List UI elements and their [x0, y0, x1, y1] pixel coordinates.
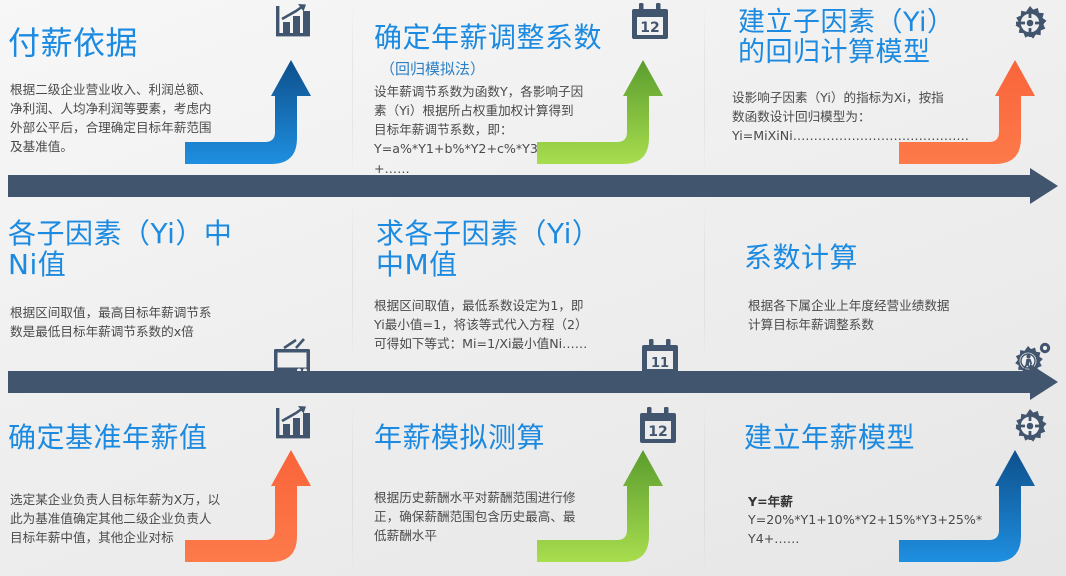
card-title: 确定年薪调整系数 [374, 22, 602, 53]
bar-chart-growth-icon [272, 2, 314, 42]
calendar-12-icon: 12 [630, 2, 670, 42]
card-title: 确定基准年薪值 [8, 422, 208, 453]
process-arrow-divider-1 [8, 175, 1058, 197]
process-card-3[interactable]: 建立子因素（Yi） 的回归计算模型 设影响子因素（Yi）的指标为Xi，按指 数函… [704, 0, 1066, 178]
process-card-2[interactable]: 确定年薪调整系数 （回归模拟法） 设年薪调节系数为函数Y，各影响子因 素（Yi）… [352, 0, 704, 178]
flow-arrow-blue [185, 52, 315, 178]
bar-chart-growth-icon [272, 404, 314, 444]
svg-text:11: 11 [651, 356, 669, 371]
gear-icon [1010, 406, 1050, 446]
process-infographic-slide: 付薪依据 根据二级企业营业收入、利润总额、 净利润、人均净利润等要素，考虑内 外… [0, 0, 1066, 576]
process-arrow-divider-2 [8, 371, 1058, 393]
divider-arrowhead [1030, 168, 1058, 204]
card-title: 建立年薪模型 [744, 422, 915, 453]
process-card-7[interactable]: 确定基准年薪值 选定某企业负责人目标年薪为X万，以 此为基准值确定其他二级企业负… [0, 400, 352, 576]
flow-arrow-orange [899, 52, 1039, 178]
card-body: 根据各下属企业上年度经营业绩数据 计算目标年薪调整系数 [748, 296, 1038, 334]
row-3: 确定基准年薪值 选定某企业负责人目标年薪为X万，以 此为基准值确定其他二级企业负… [0, 400, 1066, 576]
card-title: 各子因素（Yi）中 Ni值 [8, 218, 232, 281]
row-2: 各子因素（Yi）中 Ni值 根据区间取值，最高目标年薪调节系 数是最低目标年薪调… [0, 200, 1066, 362]
card-body: 根据区间取值，最低系数设定为1，即 Yi最小值=1，将该等式代入方程（2） 可得… [374, 296, 664, 353]
divider-stem [8, 371, 1030, 393]
calendar-12-icon: 12 [638, 406, 678, 446]
flow-arrow-blue [899, 442, 1039, 576]
card-title: 系数计算 [744, 242, 858, 273]
card-body: 根据区间取值，最高目标年薪调节系 数是最低目标年薪调节系数的x倍 [10, 303, 290, 341]
card-title: 求各子因素（Yi） 中M值 [376, 218, 600, 281]
row-1: 付薪依据 根据二级企业营业收入、利润总额、 净利润、人均净利润等要素，考虑内 外… [0, 0, 1066, 178]
process-card-9[interactable]: 建立年薪模型 Y=年薪 Y=20%*Y1+10%*Y2+15%*Y3+25%* … [704, 400, 1066, 576]
process-card-1[interactable]: 付薪依据 根据二级企业营业收入、利润总额、 净利润、人均净利润等要素，考虑内 外… [0, 0, 352, 178]
gear-icon [1010, 3, 1050, 43]
divider-arrowhead [1030, 364, 1058, 400]
card-subtitle: （回归模拟法） [380, 60, 485, 78]
flow-arrow-orange [185, 442, 315, 576]
svg-text:12: 12 [648, 424, 667, 440]
process-card-5[interactable]: 求各子因素（Yi） 中M值 根据区间取值，最低系数设定为1，即 Yi最小值=1，… [352, 200, 704, 362]
process-card-4[interactable]: 各子因素（Yi）中 Ni值 根据区间取值，最高目标年薪调节系 数是最低目标年薪调… [0, 200, 352, 362]
svg-text:12: 12 [640, 20, 659, 36]
flow-arrow-green [537, 52, 667, 178]
card-title: 年薪模拟测算 [374, 422, 545, 453]
flow-arrow-green [537, 442, 667, 576]
divider-stem [8, 175, 1030, 197]
process-card-6[interactable]: 系数计算 根据各下属企业上年度经营业绩数据 计算目标年薪调整系数 [704, 200, 1066, 362]
card-title: 付薪依据 [8, 26, 138, 62]
process-card-8[interactable]: 年薪模拟测算 根据历史薪酬水平对薪酬范围进行修 正，确保薪酬范围包含历史最高、最… [352, 400, 704, 576]
